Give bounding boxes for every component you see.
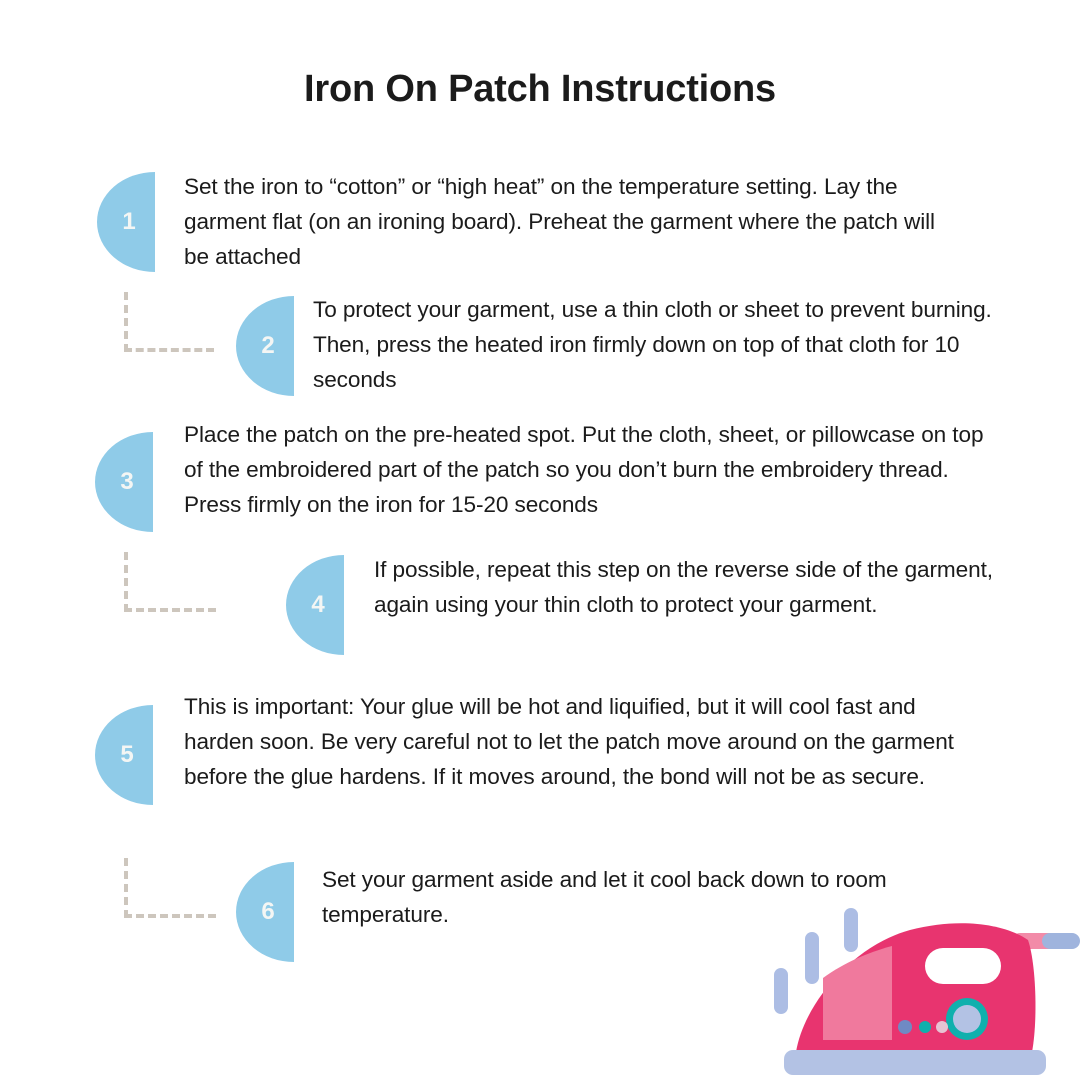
iron-front-panel-icon <box>823 946 892 1040</box>
step-text-2: To protect your garment, use a thin clot… <box>313 293 1013 397</box>
step-text-5: This is important: Your glue will be hot… <box>184 690 989 794</box>
step-number-4: 4 <box>305 593 324 617</box>
step-number-6: 6 <box>255 900 274 924</box>
step-number-5: 5 <box>114 743 133 767</box>
connector-horizontal-line <box>124 914 216 918</box>
step-badge-4: 4 <box>286 555 344 655</box>
step-text-3: Place the patch on the pre-heated spot. … <box>184 418 989 522</box>
iron-illustration <box>760 900 1080 1080</box>
infographic-page: Iron On Patch Instructions 1 Set the iro… <box>0 0 1080 1080</box>
step-number-2: 2 <box>255 334 274 358</box>
connector-to-step-6 <box>124 858 216 918</box>
page-title: Iron On Patch Instructions <box>0 68 1080 111</box>
iron-handle-cutout-icon <box>925 948 1001 984</box>
connector-vertical-line <box>124 292 128 352</box>
step-text-4: If possible, repeat this step on the rev… <box>374 553 1004 623</box>
iron-indicator-dots-icon <box>898 1020 948 1034</box>
iron-base-plate-icon <box>784 1050 1046 1075</box>
step-badge-6: 6 <box>236 862 294 962</box>
step-number-1: 1 <box>116 210 135 234</box>
iron-dial-icon <box>946 998 988 1040</box>
step-badge-2: 2 <box>236 296 294 396</box>
connector-horizontal-line <box>124 608 216 612</box>
step-badge-1: 1 <box>97 172 155 272</box>
connector-vertical-line <box>124 552 128 612</box>
connector-to-step-4 <box>124 552 216 612</box>
connector-horizontal-line <box>124 348 214 352</box>
step-number-3: 3 <box>114 470 133 494</box>
connector-to-step-2 <box>124 292 214 352</box>
step-badge-3: 3 <box>95 432 153 532</box>
step-text-1: Set the iron to “cotton” or “high heat” … <box>184 170 944 274</box>
connector-vertical-line <box>124 858 128 918</box>
step-badge-5: 5 <box>95 705 153 805</box>
